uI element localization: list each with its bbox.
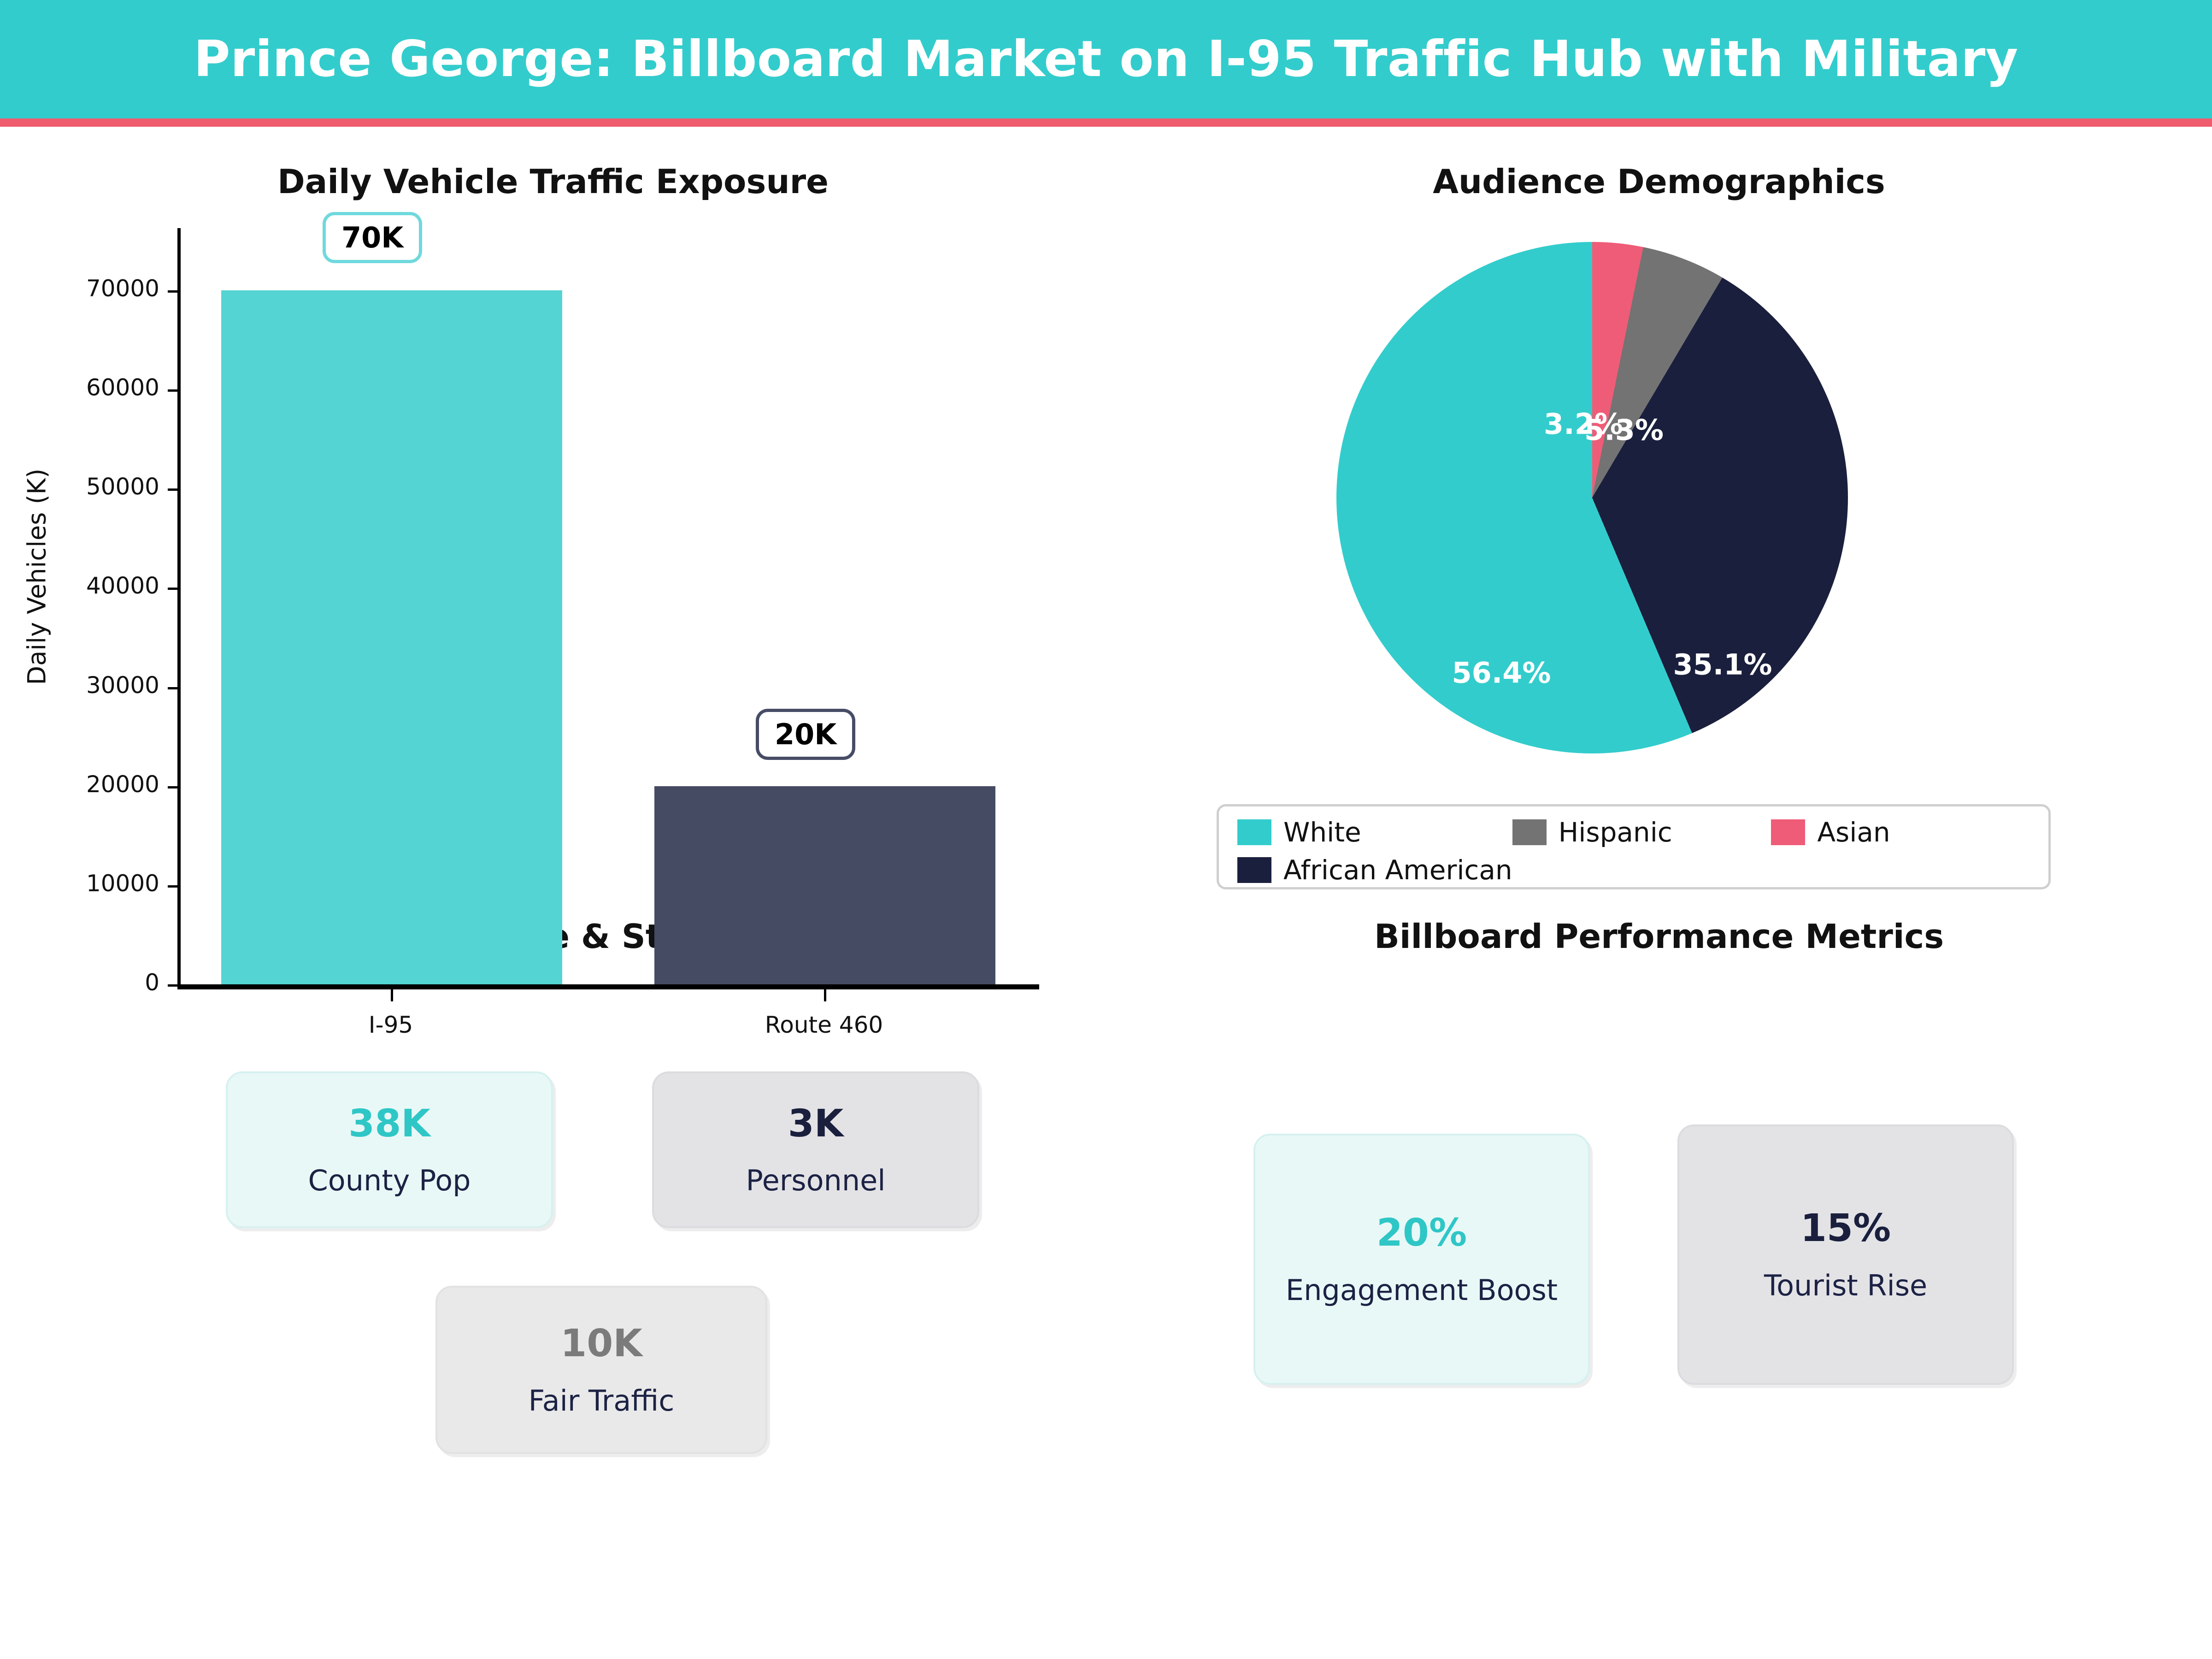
y-tick-label: 30000 bbox=[86, 672, 159, 699]
x-tick-mark-i95 bbox=[391, 989, 393, 1001]
kpi-card-engagement-boost[interactable]: 20% Engagement Boost bbox=[1253, 1134, 1590, 1385]
kpi-card-county-pop[interactable]: 38K County Pop bbox=[226, 1071, 553, 1228]
header-banner: Prince George: Billboard Market on I-95 … bbox=[0, 0, 2212, 127]
legend-swatch-white bbox=[1237, 819, 1271, 845]
y-tick-label: 60000 bbox=[86, 374, 159, 401]
legend-swatch-african-american bbox=[1237, 857, 1271, 883]
x-tick-label-i95: I-95 bbox=[299, 1012, 483, 1038]
kpi-label: Engagement Boost bbox=[1286, 1275, 1558, 1306]
kpi-label: Tourist Rise bbox=[1764, 1270, 1927, 1301]
kpi-value: 38K bbox=[348, 1103, 430, 1145]
y-tick-label: 70000 bbox=[86, 275, 159, 302]
pie-legend: White Hispanic Asian African American bbox=[1217, 804, 2051, 889]
kpi-card-tourist-rise[interactable]: 15% Tourist Rise bbox=[1677, 1124, 2014, 1385]
y-tick-label: 40000 bbox=[86, 572, 159, 599]
y-tick-mark bbox=[168, 885, 180, 888]
bar-value-label-route-460: 20K bbox=[756, 709, 855, 760]
y-axis-title: Daily Vehicles (K) bbox=[23, 324, 52, 830]
legend-item-african-american[interactable]: African American bbox=[1237, 854, 1512, 886]
kpi-label: Fair Traffic bbox=[529, 1385, 675, 1417]
y-tick-mark bbox=[168, 290, 180, 293]
legend-label: Asian bbox=[1817, 817, 1890, 848]
kpi-value: 15% bbox=[1800, 1208, 1891, 1249]
kpi-card-fair-traffic[interactable]: 10K Fair Traffic bbox=[435, 1286, 767, 1454]
kpi-right-title: Billboard Performance Metrics bbox=[1106, 917, 2212, 956]
bar-i95[interactable] bbox=[221, 290, 562, 984]
y-tick-mark bbox=[168, 588, 180, 590]
x-tick-mark-route-460 bbox=[824, 989, 826, 1001]
legend-label: African American bbox=[1283, 854, 1512, 886]
x-axis-line bbox=[177, 984, 1039, 989]
y-tick-label: 50000 bbox=[86, 473, 159, 500]
pie-label-african-american: 35.1% bbox=[1673, 648, 1772, 682]
y-tick-mark bbox=[168, 389, 180, 392]
legend-swatch-hispanic bbox=[1512, 819, 1547, 845]
legend-item-hispanic[interactable]: Hispanic bbox=[1512, 817, 1771, 848]
kpi-card-personnel[interactable]: 3K Personnel bbox=[652, 1071, 979, 1228]
legend-swatch-asian bbox=[1771, 819, 1805, 845]
kpi-value: 10K bbox=[560, 1323, 642, 1365]
y-tick-label: 20000 bbox=[86, 771, 159, 798]
page-title: Prince George: Billboard Market on I-95 … bbox=[194, 30, 2018, 88]
legend-label: Hispanic bbox=[1559, 817, 1672, 848]
x-tick-label-route-460: Route 460 bbox=[732, 1012, 916, 1038]
y-tick-mark bbox=[168, 786, 180, 788]
bar-chart: Daily Vehicles (K) 70000 60000 50000 400… bbox=[0, 194, 1106, 839]
pie-label-white: 56.4% bbox=[1452, 656, 1551, 690]
pie-label-hispanic: 5.3% bbox=[1584, 413, 1664, 447]
y-tick-mark bbox=[168, 687, 180, 689]
bar-value-label-i95: 70K bbox=[323, 212, 422, 263]
kpi-label: Personnel bbox=[746, 1165, 885, 1196]
y-tick-label: 0 bbox=[145, 969, 159, 996]
bar-route-460[interactable] bbox=[654, 786, 995, 984]
y-tick-mark bbox=[168, 984, 180, 987]
legend-item-asian[interactable]: Asian bbox=[1771, 817, 2030, 848]
kpi-label: County Pop bbox=[308, 1165, 471, 1196]
legend-item-white[interactable]: White bbox=[1237, 817, 1512, 848]
kpi-value: 3K bbox=[788, 1103, 844, 1145]
y-axis-line bbox=[177, 228, 181, 988]
pie-chart: 3.2% 5.3% 35.1% 56.4% bbox=[1106, 194, 2212, 802]
y-tick-label: 10000 bbox=[86, 870, 159, 897]
y-tick-mark bbox=[168, 488, 180, 491]
kpi-value: 20% bbox=[1377, 1212, 1467, 1254]
legend-label: White bbox=[1283, 817, 1361, 848]
